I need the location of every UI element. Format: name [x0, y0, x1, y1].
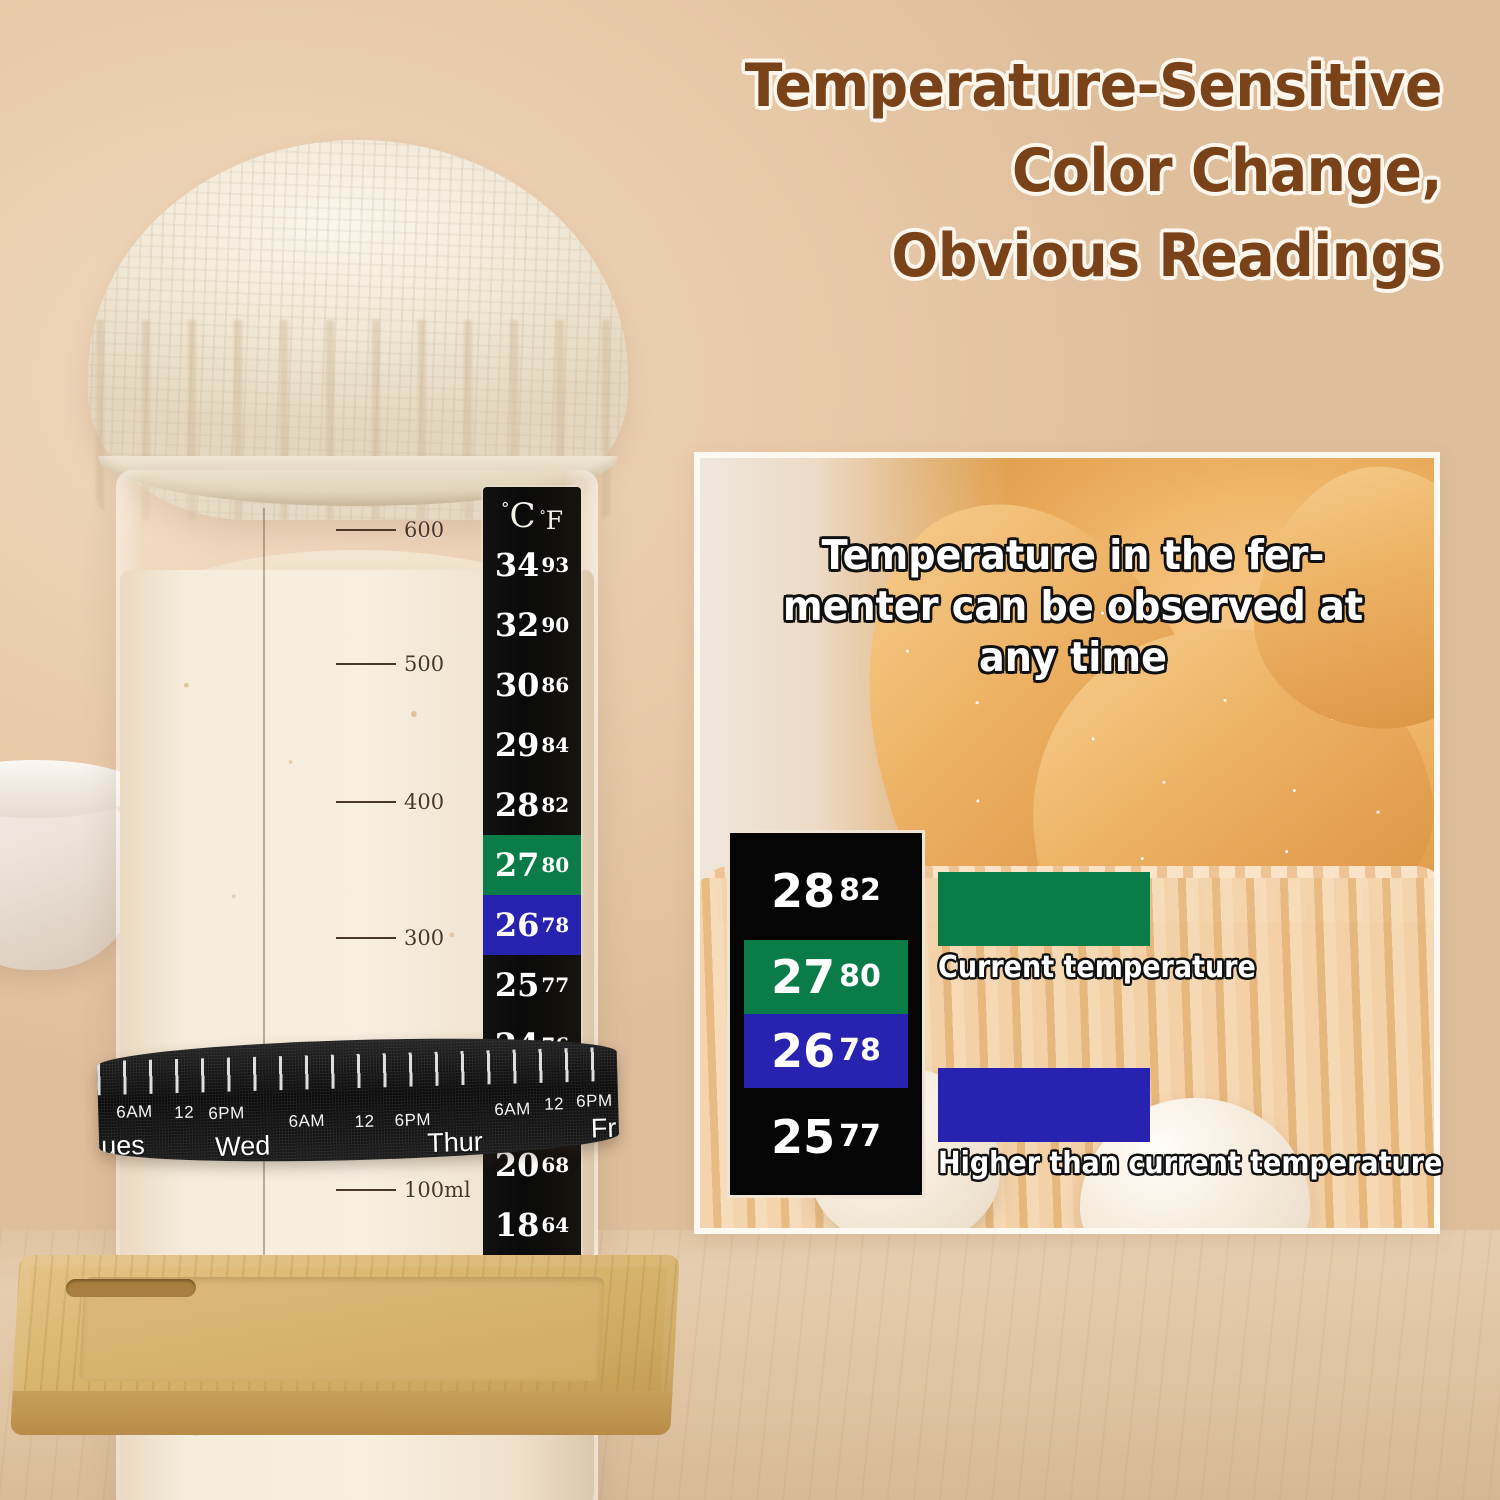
volume-mark: 500	[336, 652, 444, 676]
strip-fahrenheit: 82	[541, 793, 569, 817]
legend-label: Current temperature	[938, 950, 1256, 985]
volume-mark: 600	[336, 518, 444, 542]
detail-row: 28 82	[744, 854, 908, 928]
coaster-edge	[10, 1391, 672, 1435]
volume-tick	[336, 937, 396, 939]
detail-fahrenheit: 82	[839, 876, 881, 906]
legend-higher-temperature: Higher than current temperature	[938, 1068, 1498, 1181]
strip-celsius: 29	[495, 726, 540, 764]
volume-mark-label: 100ml	[404, 1178, 471, 1202]
strip-fahrenheit: 90	[541, 613, 569, 637]
band-tick-marks	[97, 1047, 618, 1096]
strip-fahrenheit: 64	[541, 1213, 569, 1237]
strip-fahrenheit: 84	[541, 733, 569, 757]
volume-mark: 400	[336, 790, 444, 814]
volume-tick	[336, 801, 396, 803]
detail-fahrenheit: 80	[839, 962, 881, 992]
date-tracker-band[interactable]: 6AM 12 6PM 6AM 12 6PM 6AM 12 6PM ues Wed…	[96, 1033, 619, 1167]
legend-swatch-green	[938, 872, 1150, 946]
detail-fahrenheit: 77	[839, 1122, 881, 1152]
band-day-label: Fr	[590, 1113, 616, 1145]
detail-celsius: 27	[771, 954, 835, 1000]
volume-tick	[336, 529, 396, 531]
strip-celsius: 30	[495, 666, 540, 704]
product-marketing-image: Temperature-Sensitive Color Change, Obvi…	[0, 0, 1500, 1500]
legend-current-temperature: Current temperature	[938, 872, 1291, 985]
band-time-label: 6PM	[394, 1110, 431, 1131]
detail-celsius: 25	[771, 1114, 835, 1160]
fahrenheit-unit: °F	[539, 508, 563, 533]
celsius-unit: °C	[501, 499, 536, 533]
thermometer-detail-panel: 28 82 27 80 26 78 25 77	[727, 830, 925, 1198]
strip-row: 28 82	[483, 775, 581, 835]
band-time-label: 12	[354, 1112, 374, 1133]
strip-row: 32 90	[483, 595, 581, 655]
detail-row-current: 27 80	[744, 940, 908, 1014]
volume-tick	[336, 1189, 396, 1191]
strip-celsius: 18	[495, 1206, 540, 1244]
thermometer-strip-header: °C °F	[483, 487, 581, 535]
band-time-label: 6AM	[116, 1102, 153, 1123]
strip-row-higher: 26 78	[483, 895, 581, 955]
inset-caption-line-2: menter can be observed at	[752, 581, 1394, 632]
headline-line-1: Temperature-Sensitive	[688, 44, 1442, 129]
band-time-label: 6PM	[576, 1091, 613, 1112]
band-time-label: 12	[174, 1103, 194, 1124]
band-day-label: ues	[101, 1130, 145, 1162]
strip-celsius: 28	[495, 786, 540, 824]
volume-mark-bottom: 100ml	[336, 1178, 471, 1202]
strip-row-current: 27 80	[483, 835, 581, 895]
volume-mark-label: 600	[404, 518, 444, 542]
band-time-label: 6AM	[288, 1111, 325, 1132]
inset-caption-line-3: any time	[752, 632, 1394, 683]
headline: Temperature-Sensitive Color Change, Obvi…	[688, 44, 1442, 300]
volume-mark: 300	[336, 926, 444, 950]
strip-fahrenheit: 77	[541, 973, 569, 997]
strip-celsius: 34	[495, 546, 540, 584]
detail-celsius: 26	[771, 1028, 835, 1074]
fermenter-jar: 600 500 400 300 200 100ml °C °F	[88, 140, 648, 1440]
volume-mark-label: 400	[404, 790, 444, 814]
strip-row: 25 77	[483, 955, 581, 1015]
inset-caption: Temperature in the fer- menter can be ob…	[752, 530, 1394, 682]
band-time-label: 12	[544, 1094, 564, 1115]
detail-celsius: 28	[771, 868, 835, 914]
coaster-slot	[65, 1279, 196, 1297]
bamboo-coaster	[0, 1255, 696, 1470]
headline-line-2: Color Change,	[688, 129, 1442, 214]
strip-celsius: 27	[495, 846, 540, 884]
strip-row: 34 93	[483, 535, 581, 595]
detail-row: 25 77	[744, 1100, 908, 1174]
strip-celsius: 32	[495, 606, 540, 644]
volume-mark-label: 300	[404, 926, 444, 950]
detail-row-higher: 26 78	[744, 1014, 908, 1088]
strip-row: 30 86	[483, 655, 581, 715]
headline-line-3: Obvious Readings	[688, 214, 1442, 299]
detail-fahrenheit: 78	[839, 1036, 881, 1066]
band-day-label: Wed	[215, 1130, 271, 1163]
strip-fahrenheit: 93	[541, 553, 569, 577]
legend-label: Higher than current temperature	[938, 1146, 1442, 1181]
volume-tick	[336, 663, 396, 665]
strip-celsius: 26	[495, 906, 540, 944]
band-time-label: 6AM	[494, 1099, 531, 1120]
band-time-label: 6PM	[208, 1103, 245, 1124]
strip-fahrenheit: 80	[541, 853, 569, 877]
band-day-label: Thur	[427, 1127, 483, 1160]
inset-caption-line-1: Temperature in the fer-	[752, 530, 1394, 581]
legend-swatch-blue	[938, 1068, 1150, 1142]
strip-fahrenheit: 86	[541, 673, 569, 697]
strip-celsius: 25	[495, 966, 540, 1004]
volume-mark-label: 500	[404, 652, 444, 676]
strip-fahrenheit: 78	[541, 913, 569, 937]
strip-fahrenheit: 68	[541, 1153, 569, 1177]
strip-row: 29 84	[483, 715, 581, 775]
strip-row: 18 64	[483, 1195, 581, 1255]
